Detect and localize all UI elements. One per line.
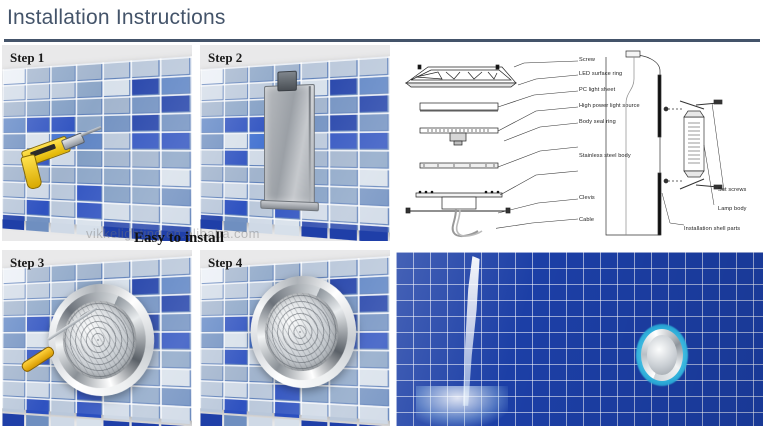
screwdriver-tool-icon <box>16 316 112 372</box>
pool-photo-panel <box>396 252 763 426</box>
diagram-label-lamp-body: Lamp body <box>718 206 747 212</box>
diagram-label-set-screws: Set screws <box>718 187 746 193</box>
step-2-image <box>200 45 390 241</box>
diagram-label-shell-parts: Installation shell parts <box>684 226 740 232</box>
installed-pool-light <box>636 324 688 386</box>
diagram-label-screw: Screw <box>579 57 595 63</box>
step-4-panel: Step 4 <box>200 250 390 426</box>
step-1-image <box>2 45 192 241</box>
step-3-label: Step 3 <box>10 255 44 271</box>
water-splash <box>416 386 508 426</box>
pool-lamp-fixture <box>247 268 360 388</box>
page-title: Installation Instructions <box>7 6 226 30</box>
step-2-panel: Step 2 <box>200 45 390 241</box>
step-3-panel: Step 3 <box>2 250 192 426</box>
step-4-label: Step 4 <box>208 255 242 271</box>
junction-box <box>277 71 296 92</box>
step-4-image <box>200 250 390 426</box>
installation-instructions-page: Installation Instructions Step 1 Step 2 <box>0 0 765 428</box>
easy-to-install-caption: Easy to install <box>134 230 224 247</box>
diagram-label-cable: Cable <box>579 217 594 223</box>
page-header: Installation Instructions <box>0 0 765 42</box>
mounting-plate <box>264 84 315 204</box>
exploded-diagram-panel: Screw LED surface ring PC light sheet Hi… <box>396 45 763 241</box>
diagram-label-clevis: Clevis <box>579 195 595 201</box>
drill-tool-icon <box>14 123 98 195</box>
step-2-label: Step 2 <box>208 50 242 66</box>
title-divider <box>4 39 760 42</box>
exploded-diagram: Screw LED surface ring PC light sheet Hi… <box>396 45 763 241</box>
step-1-panel: Step 1 <box>2 45 192 241</box>
step-1-label: Step 1 <box>10 50 44 66</box>
step-3-image <box>2 250 192 426</box>
pool-photo <box>396 252 763 426</box>
